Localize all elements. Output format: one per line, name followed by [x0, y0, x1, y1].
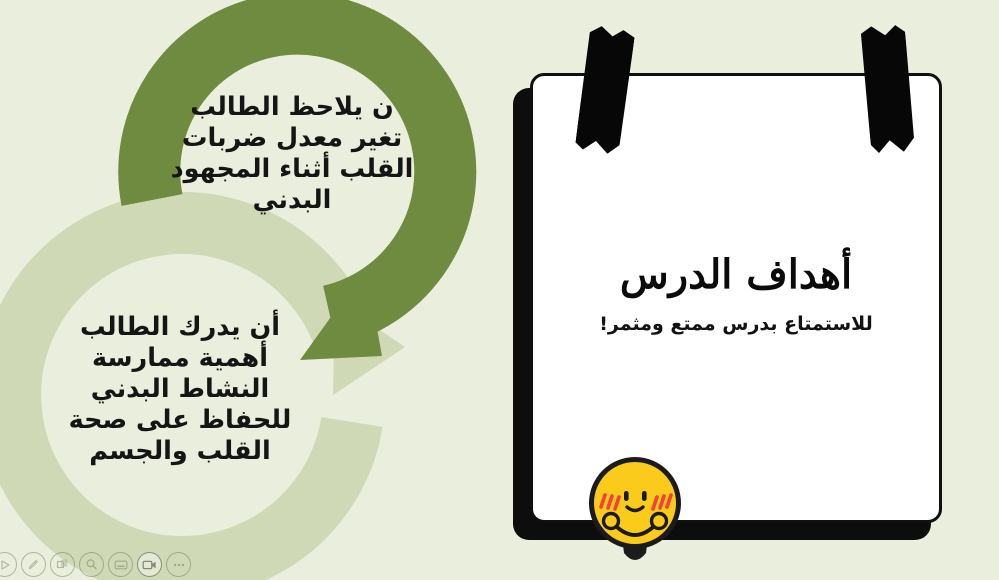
smiling-lightbulb-icon: [583, 441, 687, 571]
slide-view-button[interactable]: [108, 552, 133, 577]
zoom-icon: [85, 558, 98, 571]
pen-button[interactable]: [21, 552, 46, 577]
pen-icon: [27, 558, 40, 571]
cycle-goal-text-bottom: أن يدرك الطالب أهمية ممارسة النشاط البدن…: [60, 312, 300, 468]
duplicate-icon: [56, 558, 69, 571]
presentation-toolbar[interactable]: [0, 552, 191, 577]
play-button[interactable]: [0, 552, 17, 577]
slide-icon: [114, 559, 128, 571]
record-button[interactable]: [137, 552, 162, 577]
more-icon: [172, 562, 186, 568]
zoom-button[interactable]: [79, 552, 104, 577]
notepad: أهداف الدرس للاستمتاع بدرس ممتع ومثمر!: [505, 60, 950, 545]
more-button[interactable]: [166, 552, 191, 577]
cycle-goal-text-top: ن يلاحظ الطالب تغير معدل ضربات القلب أثن…: [168, 92, 416, 216]
play-icon: [0, 559, 11, 571]
duplicate-button[interactable]: [50, 552, 75, 577]
page-title: أهداف الدرس: [533, 251, 939, 298]
presentation-slide: ن يلاحظ الطالب تغير معدل ضربات القلب أثن…: [0, 0, 999, 580]
page-subtitle: للاستمتاع بدرس ممتع ومثمر!: [533, 313, 939, 335]
video-camera-icon: [142, 559, 157, 571]
cycle-diagram: ن يلاحظ الطالب تغير معدل ضربات القلب أثن…: [0, 0, 520, 580]
